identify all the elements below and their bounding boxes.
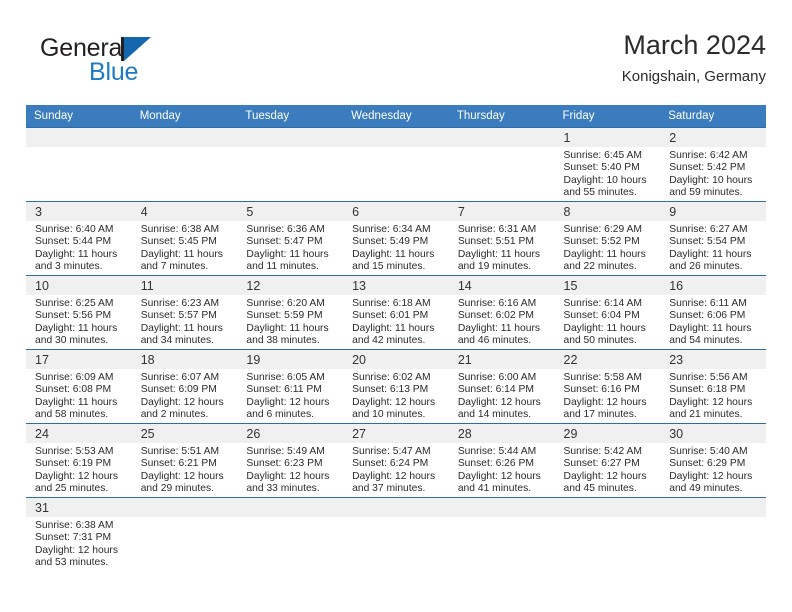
weekday-header-saturday: Saturday	[660, 105, 766, 128]
day-detail: Sunrise: 6:00 AMSunset: 6:14 PMDaylight:…	[449, 369, 555, 422]
sunset-text: Sunset: 5:45 PM	[141, 236, 232, 248]
calendar-day-cell[interactable]: 25Sunrise: 5:51 AMSunset: 6:21 PMDayligh…	[132, 424, 238, 498]
day-number: 20	[343, 350, 449, 369]
sunset-text: Sunset: 5:40 PM	[564, 162, 655, 174]
daylight-text-line2: and 19 minutes.	[458, 261, 549, 273]
daylight-text-line1: Daylight: 11 hours	[246, 249, 337, 261]
day-number: 15	[555, 276, 661, 295]
day-detail: Sunrise: 6:20 AMSunset: 5:59 PMDaylight:…	[237, 295, 343, 348]
day-number: 7	[449, 202, 555, 221]
calendar-day-cell[interactable]: 6Sunrise: 6:34 AMSunset: 5:49 PMDaylight…	[343, 202, 449, 276]
day-detail: Sunrise: 5:58 AMSunset: 6:16 PMDaylight:…	[555, 369, 661, 422]
daylight-text-line2: and 41 minutes.	[458, 483, 549, 495]
daylight-text-line2: and 58 minutes.	[35, 409, 126, 421]
sunset-text: Sunset: 6:14 PM	[458, 384, 549, 396]
calendar-day-cell[interactable]: 23Sunrise: 5:56 AMSunset: 6:18 PMDayligh…	[660, 350, 766, 424]
sunset-text: Sunset: 5:57 PM	[141, 310, 232, 322]
daylight-text-line2: and 7 minutes.	[141, 261, 232, 273]
sunrise-text: Sunrise: 6:14 AM	[564, 298, 655, 310]
daylight-text-line2: and 49 minutes.	[669, 483, 760, 495]
calendar-day-cell-empty	[555, 498, 661, 579]
daylight-text-line2: and 38 minutes.	[246, 335, 337, 347]
sunrise-text: Sunrise: 6:11 AM	[669, 298, 760, 310]
daylight-text-line1: Daylight: 11 hours	[458, 249, 549, 261]
calendar-day-cell-empty	[237, 498, 343, 579]
calendar-day-cell[interactable]: 26Sunrise: 5:49 AMSunset: 6:23 PMDayligh…	[237, 424, 343, 498]
sunrise-text: Sunrise: 6:31 AM	[458, 224, 549, 236]
daylight-text-line1: Daylight: 11 hours	[141, 249, 232, 261]
calendar-day-cell[interactable]: 19Sunrise: 6:05 AMSunset: 6:11 PMDayligh…	[237, 350, 343, 424]
calendar-day-cell[interactable]: 14Sunrise: 6:16 AMSunset: 6:02 PMDayligh…	[449, 276, 555, 350]
calendar-week-row: 3Sunrise: 6:40 AMSunset: 5:44 PMDaylight…	[26, 202, 766, 276]
day-number	[660, 498, 766, 517]
sunrise-text: Sunrise: 5:58 AM	[564, 372, 655, 384]
daylight-text-line2: and 3 minutes.	[35, 261, 126, 273]
day-number: 12	[237, 276, 343, 295]
sunrise-text: Sunrise: 6:00 AM	[458, 372, 549, 384]
sunrise-text: Sunrise: 5:56 AM	[669, 372, 760, 384]
sunset-text: Sunset: 6:16 PM	[564, 384, 655, 396]
daylight-text-line1: Daylight: 11 hours	[458, 323, 549, 335]
day-number: 14	[449, 276, 555, 295]
daylight-text-line2: and 45 minutes.	[564, 483, 655, 495]
sunset-text: Sunset: 6:29 PM	[669, 458, 760, 470]
weekday-header-tuesday: Tuesday	[237, 105, 343, 128]
day-detail: Sunrise: 6:07 AMSunset: 6:09 PMDaylight:…	[132, 369, 238, 422]
calendar-day-cell[interactable]: 4Sunrise: 6:38 AMSunset: 5:45 PMDaylight…	[132, 202, 238, 276]
sunset-text: Sunset: 6:08 PM	[35, 384, 126, 396]
daylight-text-line2: and 26 minutes.	[669, 261, 760, 273]
day-detail: Sunrise: 6:05 AMSunset: 6:11 PMDaylight:…	[237, 369, 343, 422]
day-number: 25	[132, 424, 238, 443]
day-detail: Sunrise: 6:38 AMSunset: 5:45 PMDaylight:…	[132, 221, 238, 274]
day-number: 19	[237, 350, 343, 369]
day-number: 27	[343, 424, 449, 443]
calendar-day-cell[interactable]: 9Sunrise: 6:27 AMSunset: 5:54 PMDaylight…	[660, 202, 766, 276]
sunrise-text: Sunrise: 6:34 AM	[352, 224, 443, 236]
page-masthead: General Blue March 2024 Konigshain, Germ…	[26, 28, 766, 98]
daylight-text-line1: Daylight: 11 hours	[352, 249, 443, 261]
sunset-text: Sunset: 5:56 PM	[35, 310, 126, 322]
daylight-text-line2: and 54 minutes.	[669, 335, 760, 347]
day-number: 5	[237, 202, 343, 221]
sunset-text: Sunset: 6:24 PM	[352, 458, 443, 470]
daylight-text-line2: and 59 minutes.	[669, 187, 760, 199]
sunrise-text: Sunrise: 5:51 AM	[141, 446, 232, 458]
daylight-text-line2: and 10 minutes.	[352, 409, 443, 421]
daylight-text-line1: Daylight: 12 hours	[141, 397, 232, 409]
day-detail: Sunrise: 5:42 AMSunset: 6:27 PMDaylight:…	[555, 443, 661, 496]
daylight-text-line1: Daylight: 11 hours	[35, 249, 126, 261]
day-detail: Sunrise: 6:25 AMSunset: 5:56 PMDaylight:…	[26, 295, 132, 348]
sunset-text: Sunset: 6:18 PM	[669, 384, 760, 396]
day-number	[343, 128, 449, 147]
sunset-text: Sunset: 6:23 PM	[246, 458, 337, 470]
brand-name-blue: Blue	[89, 58, 138, 86]
calendar-day-cell[interactable]: 5Sunrise: 6:36 AMSunset: 5:47 PMDaylight…	[237, 202, 343, 276]
sunrise-text: Sunrise: 6:16 AM	[458, 298, 549, 310]
daylight-text-line1: Daylight: 11 hours	[564, 249, 655, 261]
sunset-text: Sunset: 5:49 PM	[352, 236, 443, 248]
daylight-text-line2: and 11 minutes.	[246, 261, 337, 273]
day-number: 10	[26, 276, 132, 295]
daylight-text-line1: Daylight: 11 hours	[352, 323, 443, 335]
calendar-week-row: 1Sunrise: 6:45 AMSunset: 5:40 PMDaylight…	[26, 128, 766, 202]
weekday-header-monday: Monday	[132, 105, 238, 128]
day-number	[449, 498, 555, 517]
sunset-text: Sunset: 5:54 PM	[669, 236, 760, 248]
daylight-text-line2: and 30 minutes.	[35, 335, 126, 347]
calendar-day-cell[interactable]: 1Sunrise: 6:45 AMSunset: 5:40 PMDaylight…	[555, 128, 661, 202]
sunset-text: Sunset: 5:51 PM	[458, 236, 549, 248]
calendar-day-cell[interactable]: 24Sunrise: 5:53 AMSunset: 6:19 PMDayligh…	[26, 424, 132, 498]
calendar-week-row: 17Sunrise: 6:09 AMSunset: 6:08 PMDayligh…	[26, 350, 766, 424]
calendar-day-cell[interactable]: 27Sunrise: 5:47 AMSunset: 6:24 PMDayligh…	[343, 424, 449, 498]
sunset-text: Sunset: 6:09 PM	[141, 384, 232, 396]
day-detail: Sunrise: 6:34 AMSunset: 5:49 PMDaylight:…	[343, 221, 449, 274]
daylight-text-line1: Daylight: 11 hours	[35, 323, 126, 335]
daylight-text-line2: and 25 minutes.	[35, 483, 126, 495]
day-detail: Sunrise: 6:42 AMSunset: 5:42 PMDaylight:…	[660, 147, 766, 200]
day-number	[449, 128, 555, 147]
calendar-day-cell-empty	[26, 128, 132, 202]
calendar-week-row: 31Sunrise: 6:38 AMSunset: 7:31 PMDayligh…	[26, 498, 766, 579]
day-detail: Sunrise: 5:44 AMSunset: 6:26 PMDaylight:…	[449, 443, 555, 496]
calendar-day-cell-empty	[343, 498, 449, 579]
calendar-body: 1Sunrise: 6:45 AMSunset: 5:40 PMDaylight…	[26, 128, 766, 579]
day-detail: Sunrise: 6:18 AMSunset: 6:01 PMDaylight:…	[343, 295, 449, 348]
calendar-day-cell[interactable]: 21Sunrise: 6:00 AMSunset: 6:14 PMDayligh…	[449, 350, 555, 424]
daylight-text-line2: and 34 minutes.	[141, 335, 232, 347]
daylight-text-line1: Daylight: 11 hours	[246, 323, 337, 335]
day-number: 23	[660, 350, 766, 369]
sunrise-text: Sunrise: 6:45 AM	[564, 150, 655, 162]
sunrise-text: Sunrise: 6:05 AM	[246, 372, 337, 384]
day-detail: Sunrise: 5:49 AMSunset: 6:23 PMDaylight:…	[237, 443, 343, 496]
day-number	[343, 498, 449, 517]
day-detail: Sunrise: 6:02 AMSunset: 6:13 PMDaylight:…	[343, 369, 449, 422]
day-detail: Sunrise: 6:23 AMSunset: 5:57 PMDaylight:…	[132, 295, 238, 348]
daylight-text-line1: Daylight: 12 hours	[669, 471, 760, 483]
calendar-day-cell[interactable]: 8Sunrise: 6:29 AMSunset: 5:52 PMDaylight…	[555, 202, 661, 276]
calendar-day-cell-empty	[132, 498, 238, 579]
day-number	[555, 498, 661, 517]
daylight-text-line1: Daylight: 12 hours	[352, 397, 443, 409]
day-detail: Sunrise: 6:45 AMSunset: 5:40 PMDaylight:…	[555, 147, 661, 200]
calendar-day-cell[interactable]: 10Sunrise: 6:25 AMSunset: 5:56 PMDayligh…	[26, 276, 132, 350]
sunset-text: Sunset: 6:11 PM	[246, 384, 337, 396]
daylight-text-line1: Daylight: 11 hours	[35, 397, 126, 409]
daylight-text-line2: and 2 minutes.	[141, 409, 232, 421]
daylight-text-line2: and 15 minutes.	[352, 261, 443, 273]
day-detail: Sunrise: 6:29 AMSunset: 5:52 PMDaylight:…	[555, 221, 661, 274]
daylight-text-line2: and 33 minutes.	[246, 483, 337, 495]
sunrise-text: Sunrise: 6:07 AM	[141, 372, 232, 384]
calendar-day-cell-empty	[343, 128, 449, 202]
day-number: 2	[660, 128, 766, 147]
daylight-text-line1: Daylight: 10 hours	[564, 175, 655, 187]
day-detail: Sunrise: 5:51 AMSunset: 6:21 PMDaylight:…	[132, 443, 238, 496]
weekday-header-row: Sunday Monday Tuesday Wednesday Thursday…	[26, 105, 766, 128]
calendar-page: General Blue March 2024 Konigshain, Germ…	[0, 0, 792, 612]
day-number: 30	[660, 424, 766, 443]
daylight-text-line1: Daylight: 12 hours	[564, 471, 655, 483]
daylight-text-line1: Daylight: 12 hours	[669, 397, 760, 409]
daylight-text-line2: and 46 minutes.	[458, 335, 549, 347]
sunset-text: Sunset: 5:52 PM	[564, 236, 655, 248]
day-number: 16	[660, 276, 766, 295]
daylight-text-line1: Daylight: 12 hours	[564, 397, 655, 409]
day-number	[132, 128, 238, 147]
weekday-header-sunday: Sunday	[26, 105, 132, 128]
sunrise-text: Sunrise: 6:42 AM	[669, 150, 760, 162]
sunrise-text: Sunrise: 6:38 AM	[35, 520, 126, 532]
calendar-day-cell-empty	[449, 498, 555, 579]
sunset-text: Sunset: 7:31 PM	[35, 532, 126, 544]
day-number	[132, 498, 238, 517]
calendar-day-cell-empty	[132, 128, 238, 202]
day-number: 21	[449, 350, 555, 369]
calendar-day-cell-empty	[449, 128, 555, 202]
calendar-grid: Sunday Monday Tuesday Wednesday Thursday…	[26, 105, 766, 578]
day-number	[237, 128, 343, 147]
daylight-text-line2: and 6 minutes.	[246, 409, 337, 421]
weekday-header-thursday: Thursday	[449, 105, 555, 128]
day-number: 8	[555, 202, 661, 221]
daylight-text-line1: Daylight: 11 hours	[669, 323, 760, 335]
sunset-text: Sunset: 5:59 PM	[246, 310, 337, 322]
brand-logo[interactable]: General Blue	[26, 28, 266, 90]
daylight-text-line1: Daylight: 12 hours	[352, 471, 443, 483]
weekday-header-friday: Friday	[555, 105, 661, 128]
day-number: 1	[555, 128, 661, 147]
sunrise-text: Sunrise: 6:20 AM	[246, 298, 337, 310]
day-detail: Sunrise: 6:14 AMSunset: 6:04 PMDaylight:…	[555, 295, 661, 348]
day-number	[26, 128, 132, 147]
daylight-text-line2: and 42 minutes.	[352, 335, 443, 347]
daylight-text-line1: Daylight: 12 hours	[246, 471, 337, 483]
daylight-text-line1: Daylight: 11 hours	[669, 249, 760, 261]
sunrise-text: Sunrise: 6:09 AM	[35, 372, 126, 384]
day-number: 29	[555, 424, 661, 443]
day-number: 17	[26, 350, 132, 369]
day-detail: Sunrise: 6:40 AMSunset: 5:44 PMDaylight:…	[26, 221, 132, 274]
sunset-text: Sunset: 5:44 PM	[35, 236, 126, 248]
weekday-header-wednesday: Wednesday	[343, 105, 449, 128]
calendar-day-cell[interactable]: 30Sunrise: 5:40 AMSunset: 6:29 PMDayligh…	[660, 424, 766, 498]
daylight-text-line2: and 29 minutes.	[141, 483, 232, 495]
sunset-text: Sunset: 6:26 PM	[458, 458, 549, 470]
calendar-day-cell[interactable]: 2Sunrise: 6:42 AMSunset: 5:42 PMDaylight…	[660, 128, 766, 202]
calendar-day-cell[interactable]: 28Sunrise: 5:44 AMSunset: 6:26 PMDayligh…	[449, 424, 555, 498]
day-detail: Sunrise: 6:36 AMSunset: 5:47 PMDaylight:…	[237, 221, 343, 274]
sunset-text: Sunset: 5:42 PM	[669, 162, 760, 174]
calendar-week-row: 10Sunrise: 6:25 AMSunset: 5:56 PMDayligh…	[26, 276, 766, 350]
day-detail: Sunrise: 6:09 AMSunset: 6:08 PMDaylight:…	[26, 369, 132, 422]
daylight-text-line2: and 22 minutes.	[564, 261, 655, 273]
day-number: 3	[26, 202, 132, 221]
sunrise-text: Sunrise: 5:42 AM	[564, 446, 655, 458]
day-number: 22	[555, 350, 661, 369]
page-subtitle: Konigshain, Germany	[622, 66, 766, 88]
sunrise-text: Sunrise: 6:29 AM	[564, 224, 655, 236]
sunset-text: Sunset: 5:47 PM	[246, 236, 337, 248]
daylight-text-line2: and 17 minutes.	[564, 409, 655, 421]
calendar-day-cell[interactable]: 29Sunrise: 5:42 AMSunset: 6:27 PMDayligh…	[555, 424, 661, 498]
sunrise-text: Sunrise: 6:38 AM	[141, 224, 232, 236]
calendar-day-cell-empty	[660, 498, 766, 579]
sunrise-text: Sunrise: 5:40 AM	[669, 446, 760, 458]
calendar-day-cell[interactable]: 7Sunrise: 6:31 AMSunset: 5:51 PMDaylight…	[449, 202, 555, 276]
sunrise-text: Sunrise: 6:18 AM	[352, 298, 443, 310]
day-number: 18	[132, 350, 238, 369]
sunset-text: Sunset: 6:06 PM	[669, 310, 760, 322]
sunset-text: Sunset: 6:21 PM	[141, 458, 232, 470]
daylight-text-line1: Daylight: 10 hours	[669, 175, 760, 187]
day-number	[237, 498, 343, 517]
page-title: March 2024	[622, 28, 766, 62]
calendar-week-row: 24Sunrise: 5:53 AMSunset: 6:19 PMDayligh…	[26, 424, 766, 498]
day-detail: Sunrise: 6:27 AMSunset: 5:54 PMDaylight:…	[660, 221, 766, 274]
daylight-text-line1: Daylight: 12 hours	[458, 397, 549, 409]
calendar-day-cell[interactable]: 16Sunrise: 6:11 AMSunset: 6:06 PMDayligh…	[660, 276, 766, 350]
calendar-day-cell[interactable]: 15Sunrise: 6:14 AMSunset: 6:04 PMDayligh…	[555, 276, 661, 350]
day-number: 9	[660, 202, 766, 221]
calendar-day-cell[interactable]: 13Sunrise: 6:18 AMSunset: 6:01 PMDayligh…	[343, 276, 449, 350]
sunrise-text: Sunrise: 5:47 AM	[352, 446, 443, 458]
sunrise-text: Sunrise: 5:44 AM	[458, 446, 549, 458]
daylight-text-line1: Daylight: 12 hours	[35, 545, 126, 557]
daylight-text-line1: Daylight: 12 hours	[246, 397, 337, 409]
day-number: 26	[237, 424, 343, 443]
calendar-day-cell[interactable]: 3Sunrise: 6:40 AMSunset: 5:44 PMDaylight…	[26, 202, 132, 276]
day-number: 13	[343, 276, 449, 295]
day-number: 28	[449, 424, 555, 443]
daylight-text-line1: Daylight: 11 hours	[564, 323, 655, 335]
daylight-text-line2: and 37 minutes.	[352, 483, 443, 495]
sunrise-text: Sunrise: 6:36 AM	[246, 224, 337, 236]
day-number: 6	[343, 202, 449, 221]
day-detail: Sunrise: 5:53 AMSunset: 6:19 PMDaylight:…	[26, 443, 132, 496]
calendar-day-cell[interactable]: 22Sunrise: 5:58 AMSunset: 6:16 PMDayligh…	[555, 350, 661, 424]
day-number: 31	[26, 498, 132, 517]
daylight-text-line1: Daylight: 12 hours	[35, 471, 126, 483]
sunset-text: Sunset: 6:01 PM	[352, 310, 443, 322]
calendar-day-cell[interactable]: 18Sunrise: 6:07 AMSunset: 6:09 PMDayligh…	[132, 350, 238, 424]
daylight-text-line2: and 50 minutes.	[564, 335, 655, 347]
sunset-text: Sunset: 6:19 PM	[35, 458, 126, 470]
daylight-text-line1: Daylight: 12 hours	[458, 471, 549, 483]
calendar-day-cell[interactable]: 20Sunrise: 6:02 AMSunset: 6:13 PMDayligh…	[343, 350, 449, 424]
calendar-day-cell[interactable]: 17Sunrise: 6:09 AMSunset: 6:08 PMDayligh…	[26, 350, 132, 424]
day-detail: Sunrise: 6:31 AMSunset: 5:51 PMDaylight:…	[449, 221, 555, 274]
sunset-text: Sunset: 6:04 PM	[564, 310, 655, 322]
daylight-text-line2: and 53 minutes.	[35, 557, 126, 569]
calendar-day-cell[interactable]: 11Sunrise: 6:23 AMSunset: 5:57 PMDayligh…	[132, 276, 238, 350]
calendar-day-cell[interactable]: 12Sunrise: 6:20 AMSunset: 5:59 PMDayligh…	[237, 276, 343, 350]
sunrise-text: Sunrise: 5:53 AM	[35, 446, 126, 458]
day-detail: Sunrise: 6:16 AMSunset: 6:02 PMDaylight:…	[449, 295, 555, 348]
day-number: 24	[26, 424, 132, 443]
day-detail: Sunrise: 6:11 AMSunset: 6:06 PMDaylight:…	[660, 295, 766, 348]
sunrise-text: Sunrise: 5:49 AM	[246, 446, 337, 458]
day-detail: Sunrise: 5:56 AMSunset: 6:18 PMDaylight:…	[660, 369, 766, 422]
sunrise-text: Sunrise: 6:02 AM	[352, 372, 443, 384]
daylight-text-line2: and 55 minutes.	[564, 187, 655, 199]
daylight-text-line1: Daylight: 11 hours	[141, 323, 232, 335]
calendar-day-cell[interactable]: 31Sunrise: 6:38 AMSunset: 7:31 PMDayligh…	[26, 498, 132, 579]
day-number: 11	[132, 276, 238, 295]
day-number: 4	[132, 202, 238, 221]
sunrise-text: Sunrise: 6:40 AM	[35, 224, 126, 236]
day-detail: Sunrise: 5:47 AMSunset: 6:24 PMDaylight:…	[343, 443, 449, 496]
sunrise-text: Sunrise: 6:27 AM	[669, 224, 760, 236]
daylight-text-line1: Daylight: 12 hours	[141, 471, 232, 483]
title-block: March 2024 Konigshain, Germany	[622, 28, 766, 88]
daylight-text-line2: and 14 minutes.	[458, 409, 549, 421]
day-detail: Sunrise: 5:40 AMSunset: 6:29 PMDaylight:…	[660, 443, 766, 496]
sunrise-text: Sunrise: 6:23 AM	[141, 298, 232, 310]
sunset-text: Sunset: 6:27 PM	[564, 458, 655, 470]
day-detail: Sunrise: 6:38 AMSunset: 7:31 PMDaylight:…	[26, 517, 132, 570]
daylight-text-line2: and 21 minutes.	[669, 409, 760, 421]
sunset-text: Sunset: 6:13 PM	[352, 384, 443, 396]
sunrise-text: Sunrise: 6:25 AM	[35, 298, 126, 310]
sunset-text: Sunset: 6:02 PM	[458, 310, 549, 322]
calendar-day-cell-empty	[237, 128, 343, 202]
